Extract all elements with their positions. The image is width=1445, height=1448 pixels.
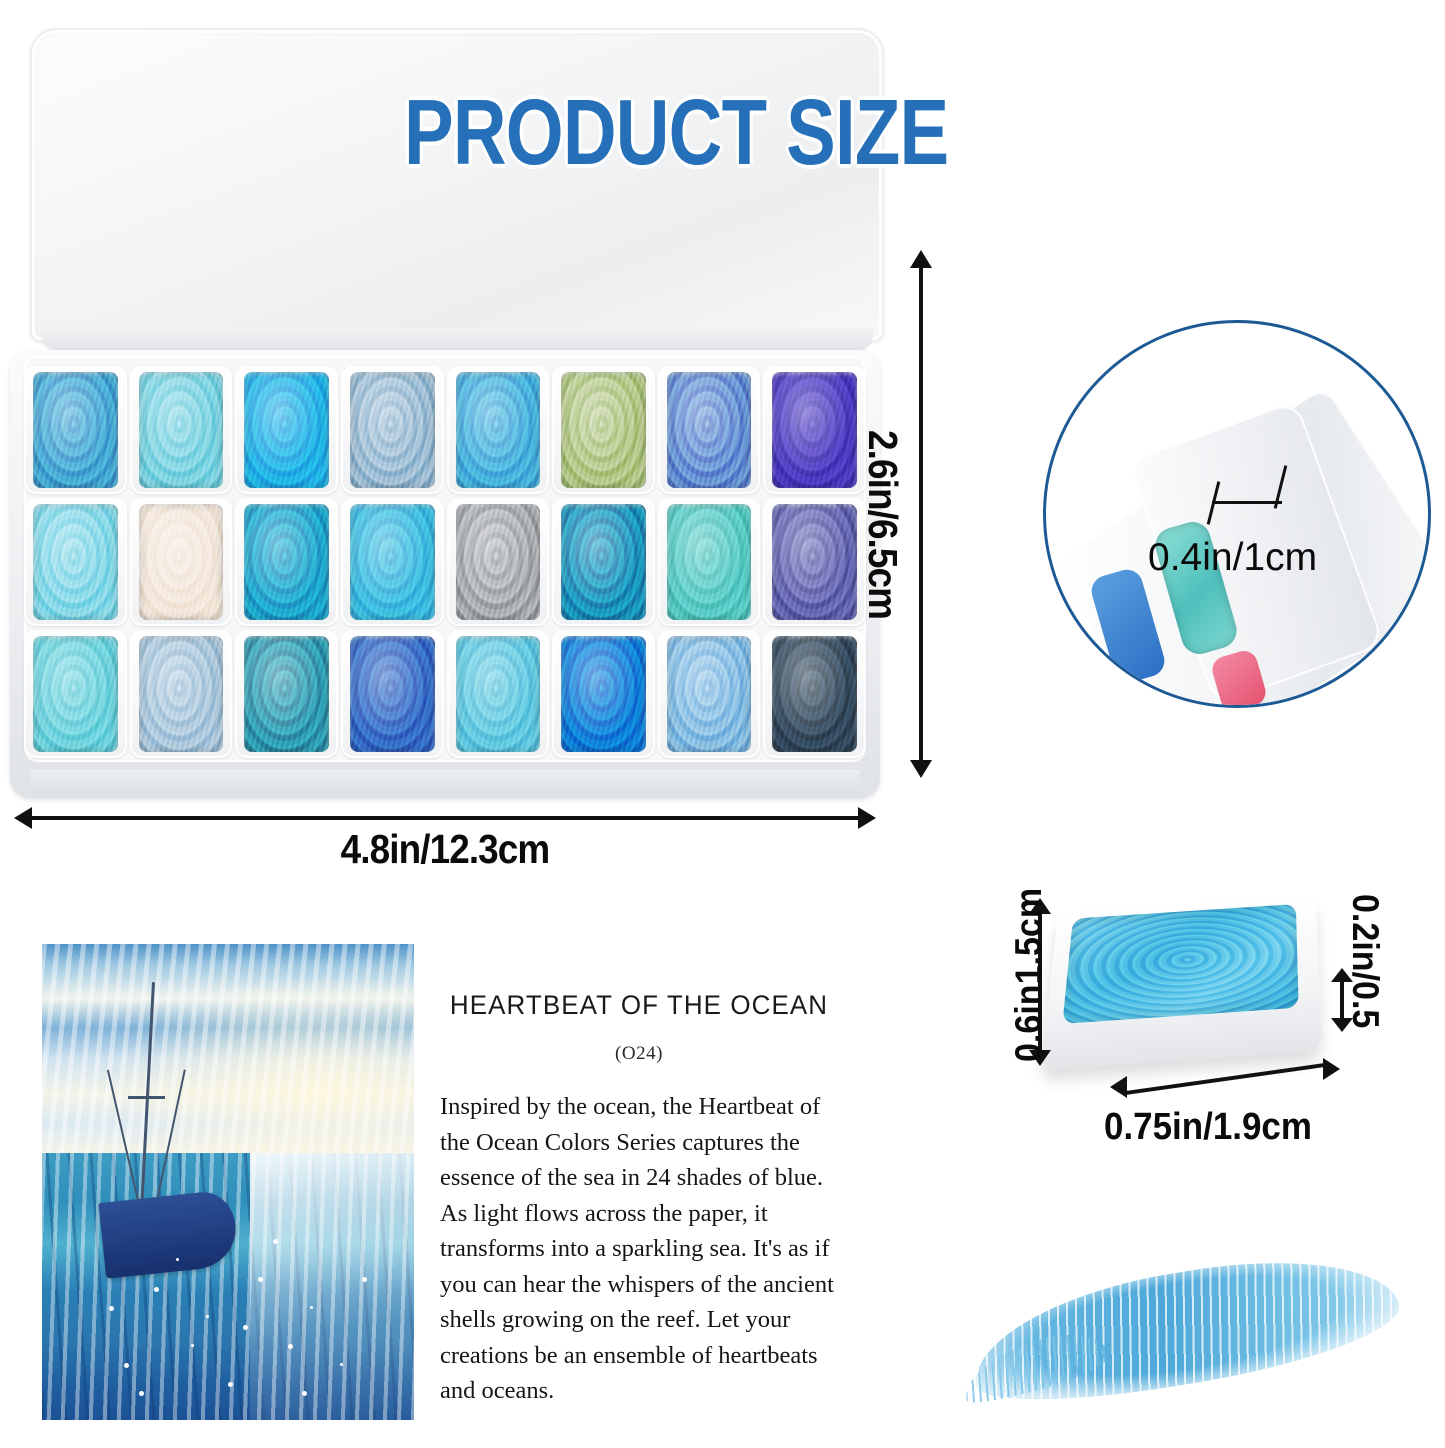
paint-pan-color — [667, 372, 752, 488]
artwork-spray-dot — [288, 1344, 293, 1349]
paint-pan[interactable] — [552, 630, 655, 758]
paint-pan-color — [244, 636, 329, 752]
page-title: PRODUCT SIZE — [404, 82, 916, 182]
artwork-spray-dot — [124, 1363, 129, 1368]
pan-grid — [24, 366, 866, 758]
artwork-spray-dot — [340, 1363, 343, 1366]
artwork-sun-glare — [250, 1153, 414, 1420]
palette-tray — [10, 350, 880, 798]
pan-paint-surface — [1062, 904, 1298, 1024]
paint-pan-color — [772, 372, 857, 488]
paint-pan-color — [456, 372, 541, 488]
paint-pan[interactable] — [130, 366, 233, 494]
width-dimension-label: 4.8in/12.3cm — [57, 826, 833, 873]
paint-pan-color — [33, 372, 118, 488]
arrow-bar — [28, 816, 862, 820]
infographic-canvas: PRODUCT SIZE 4.8in/12.3cm 2.6in/6.5cm 0.… — [0, 0, 1445, 1448]
paint-pan[interactable] — [130, 498, 233, 626]
paint-brush-stroke-swatch — [960, 1246, 1430, 1426]
lid-thickness-label: 0.4in/1cm — [1148, 536, 1317, 580]
paint-pan[interactable] — [235, 366, 338, 494]
paint-pan-color — [33, 504, 118, 620]
paint-pan-color — [456, 636, 541, 752]
description-body: Inspired by the ocean, the Heartbeat of … — [440, 1089, 838, 1409]
artwork-spray-dot — [228, 1382, 233, 1387]
paint-pan-color — [244, 372, 329, 488]
paint-pan[interactable] — [341, 498, 444, 626]
paint-pan-color — [456, 504, 541, 620]
palette-lid — [30, 28, 884, 342]
paint-pan-color — [139, 504, 224, 620]
paint-pan-color — [244, 504, 329, 620]
paint-pan-color — [350, 504, 435, 620]
paint-pan[interactable] — [552, 498, 655, 626]
paint-pan[interactable] — [763, 630, 866, 758]
lid-thickness-closeup — [1043, 320, 1431, 708]
artwork-sky — [42, 944, 414, 1153]
paint-pan-color — [772, 504, 857, 620]
pan-width-arrow — [1110, 1066, 1340, 1092]
paint-pan-color — [667, 636, 752, 752]
arrow-head-down-icon — [910, 760, 932, 778]
paint-pan-color — [772, 636, 857, 752]
artwork-spray-dot — [273, 1239, 278, 1244]
paint-pan[interactable] — [658, 366, 761, 494]
arrow-head-right-icon — [1323, 1058, 1340, 1080]
paint-pan[interactable] — [552, 366, 655, 494]
paint-pan[interactable] — [24, 630, 127, 758]
paint-pan[interactable] — [658, 630, 761, 758]
paint-pan-color — [561, 504, 646, 620]
thickness-measure-bracket — [1212, 481, 1282, 525]
description-subtitle: (O24) — [440, 1043, 838, 1065]
bracket-bar — [1212, 501, 1282, 504]
paint-pan[interactable] — [24, 498, 127, 626]
watercolor-artwork — [42, 944, 414, 1420]
paint-pan-color — [561, 636, 646, 752]
pan-height-label: 0.6in1.5cm — [1008, 888, 1050, 1062]
paint-pan[interactable] — [447, 366, 550, 494]
paint-pan[interactable] — [235, 498, 338, 626]
single-pan-dimension-diagram: 0.6in1.5cm 0.2in/0.5 0.75in/1.9cm — [1020, 872, 1360, 1102]
height-dimension-label: 2.6in/6.5cm — [859, 430, 906, 619]
pan-depth-label: 0.2in/0.5 — [1344, 894, 1386, 1028]
paint-pan[interactable] — [658, 498, 761, 626]
paint-pan[interactable] — [24, 366, 127, 494]
artwork-spray-dot — [206, 1315, 209, 1318]
paint-pan-color — [350, 372, 435, 488]
artwork-spray-dot — [310, 1306, 313, 1309]
paint-pan[interactable] — [235, 630, 338, 758]
paint-pan-color — [139, 372, 224, 488]
paint-pan-color — [350, 636, 435, 752]
paint-pan-color — [561, 372, 646, 488]
paint-pan-color — [139, 636, 224, 752]
artwork-spray-dot — [109, 1306, 114, 1311]
paint-pan-color — [667, 504, 752, 620]
artwork-spray-dot — [191, 1344, 194, 1347]
description-title: HEARTBEAT OF THE OCEAN — [444, 990, 834, 1021]
paint-pan[interactable] — [447, 498, 550, 626]
product-description-card: HEARTBEAT OF THE OCEAN (O24) Inspired by… — [414, 944, 864, 1420]
paint-pan[interactable] — [341, 630, 444, 758]
pan-width-label: 0.75in/1.9cm — [1061, 1106, 1355, 1149]
arrow-bar — [1125, 1063, 1326, 1095]
paint-pan-color — [33, 636, 118, 752]
paint-pan[interactable] — [763, 498, 866, 626]
artwork-spray-dot — [243, 1325, 248, 1330]
artwork-spar — [128, 1096, 165, 1099]
paint-pan[interactable] — [341, 366, 444, 494]
arrow-head-right-icon — [858, 807, 876, 829]
artwork-spray-dot — [154, 1287, 159, 1292]
height-dimension-arrow — [908, 250, 934, 778]
paint-pan[interactable] — [763, 366, 866, 494]
arrow-bar — [919, 264, 923, 764]
artwork-spray-dot — [258, 1277, 263, 1282]
paint-pan[interactable] — [447, 630, 550, 758]
paint-pan[interactable] — [130, 630, 233, 758]
